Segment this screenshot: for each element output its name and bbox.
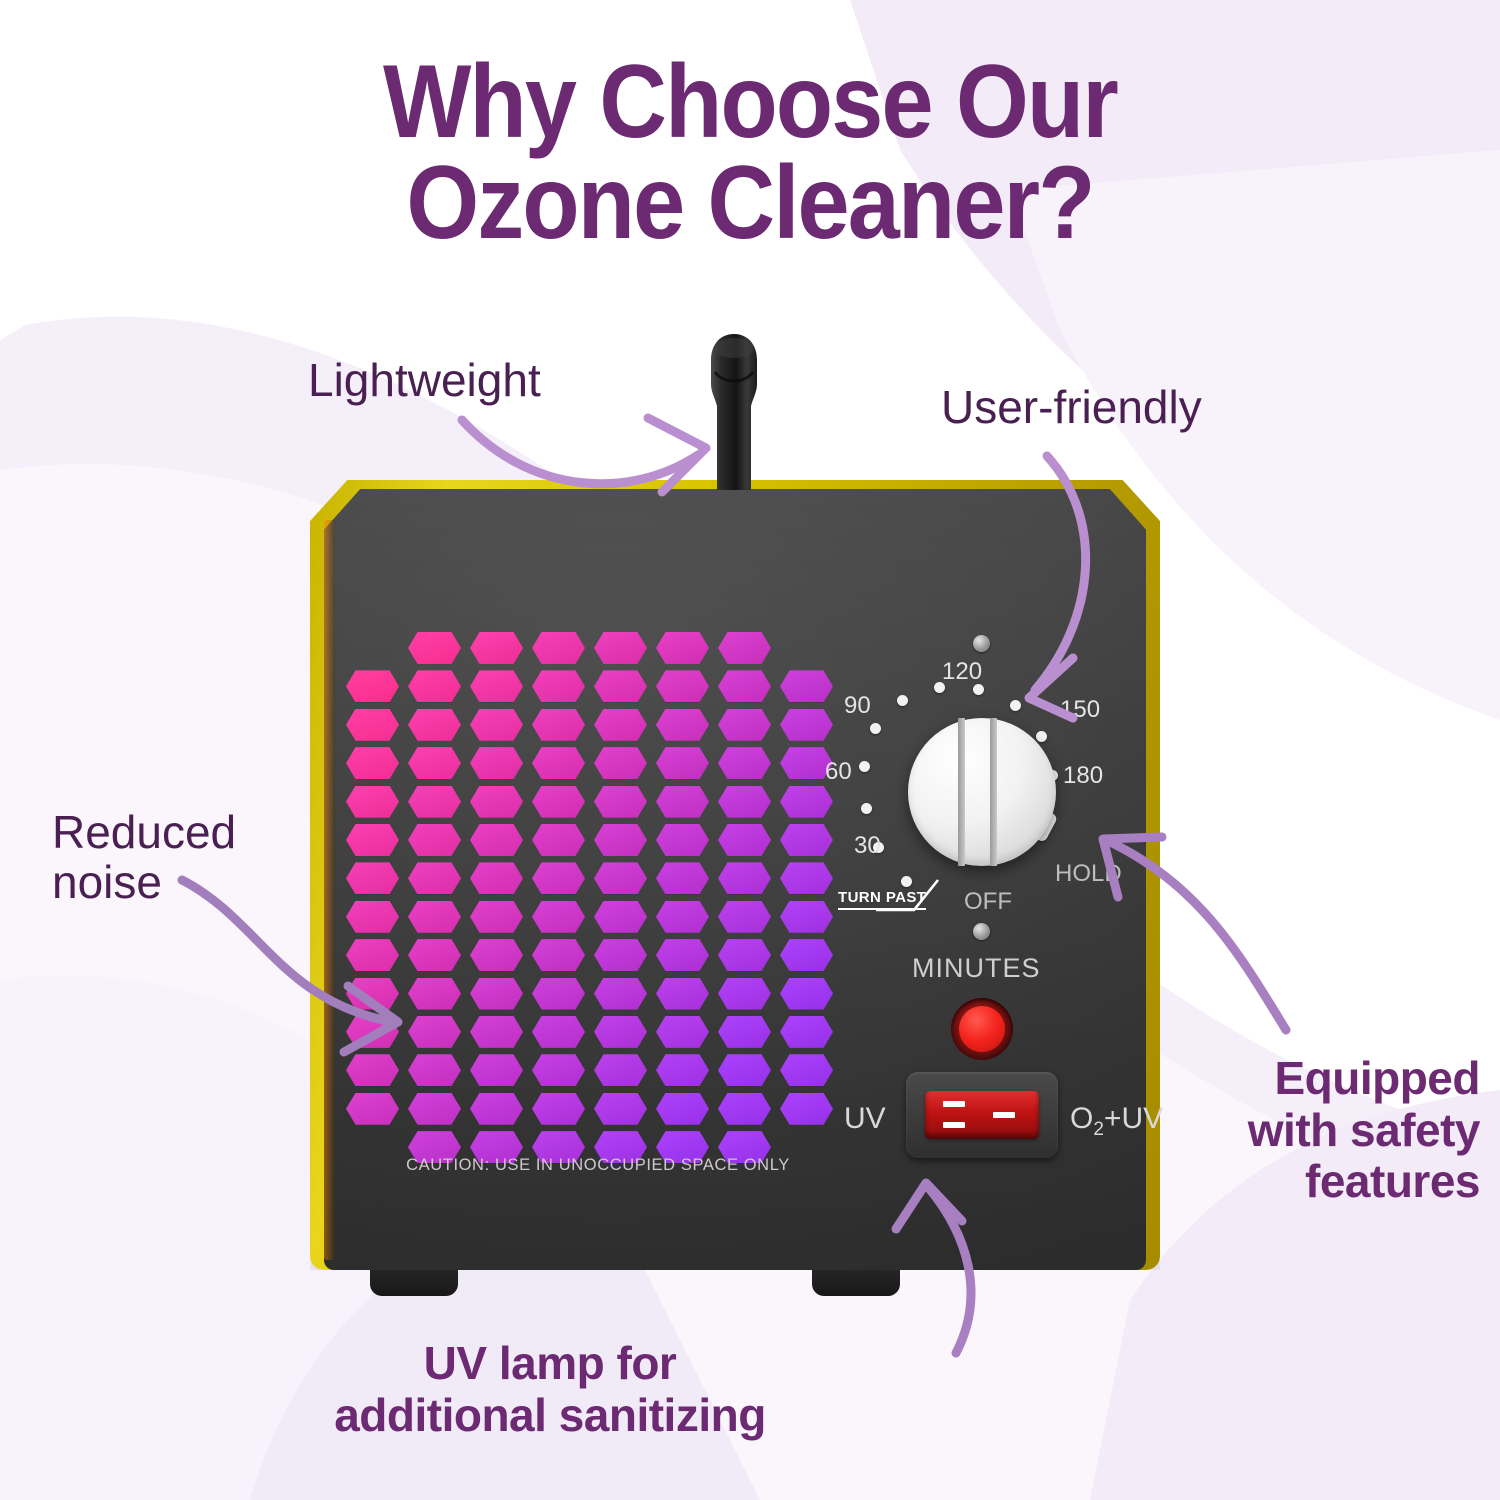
grille-cell (408, 632, 461, 664)
grille-cell (470, 939, 523, 971)
dial-tick-dot (861, 803, 872, 814)
grille-cell (532, 709, 585, 741)
grille-cell (532, 978, 585, 1010)
led-glow-icon (959, 1006, 1005, 1052)
grille-cell (532, 1054, 585, 1086)
grille-cell (780, 709, 833, 741)
caution-text: CAUTION: USE IN UNOCCUPIED SPACE ONLY (388, 1156, 808, 1175)
grille-cell (718, 632, 771, 664)
grille-cell (780, 939, 833, 971)
infographic-canvas: Why Choose Our Ozone Cleaner? Lightweigh… (0, 0, 1500, 1500)
mode-rocker-switch[interactable] (925, 1091, 1039, 1139)
callout-uv-line-2: additional sanitizing (334, 1389, 766, 1441)
switch-label-sub: 2 (1093, 1119, 1104, 1140)
grille-cell (470, 786, 523, 818)
grille-cell (408, 1016, 461, 1048)
grille-cell (594, 747, 647, 779)
grille-cell (718, 1016, 771, 1048)
grille-cell (594, 632, 647, 664)
grille-cell (532, 1016, 585, 1048)
grille-row (346, 670, 836, 703)
dial-label-60: 60 (825, 758, 852, 786)
rocker-tick-icon (943, 1101, 965, 1107)
grille-row (346, 939, 836, 972)
grille-row (346, 709, 836, 742)
dial-label-180: 180 (1063, 762, 1103, 790)
grille-row (346, 824, 836, 857)
dial-label-off: OFF (964, 888, 1012, 916)
grille-cell (656, 747, 709, 779)
grille-cell (656, 1016, 709, 1048)
grille-cell (656, 709, 709, 741)
callout-safety-line-2: with safety (1248, 1104, 1480, 1156)
grille-cell (532, 901, 585, 933)
grille-cell (780, 978, 833, 1010)
arrow-uv-lamp-icon (830, 1175, 1010, 1360)
switch-label-o: O (1070, 1102, 1093, 1135)
grille-cell (594, 1054, 647, 1086)
grille-cell (532, 824, 585, 856)
dial-label-90: 90 (844, 692, 871, 720)
screw-bottom-icon (973, 923, 990, 940)
callout-safety-line-1: Equipped (1274, 1052, 1480, 1104)
grille-cell (470, 747, 523, 779)
grille-row (346, 1054, 836, 1087)
grille-cell (470, 978, 523, 1010)
callout-uv-line-1: UV lamp for (424, 1337, 677, 1389)
grille-cell (346, 824, 399, 856)
grille-row (346, 901, 836, 934)
grille-cell (594, 670, 647, 702)
power-indicator-led (951, 998, 1013, 1060)
dial-label-120: 120 (942, 658, 982, 686)
grille-row (346, 747, 836, 780)
grille-row (346, 862, 836, 895)
grille-cell (780, 824, 833, 856)
mode-switch-housing (906, 1072, 1058, 1158)
page-title: Why Choose Our Ozone Cleaner? (75, 52, 1425, 254)
grille-cell (532, 747, 585, 779)
grille-cell (656, 670, 709, 702)
grille-cell (470, 1016, 523, 1048)
grille-cell (408, 709, 461, 741)
grille-cell (408, 1093, 461, 1125)
arrow-lightweight-icon (450, 400, 750, 520)
grille-cell (594, 709, 647, 741)
grille-cell (718, 1054, 771, 1086)
title-line-1: Why Choose Our (383, 44, 1117, 160)
grille-row (346, 786, 836, 819)
grille-cell (470, 632, 523, 664)
grille-cell (656, 901, 709, 933)
minutes-label: MINUTES (912, 953, 1041, 984)
callout-lightweight: Lightweight (308, 356, 541, 406)
grille-cell (656, 939, 709, 971)
grille-cell (718, 901, 771, 933)
grille-cell (470, 1093, 523, 1125)
dial-tick-dot (870, 723, 881, 734)
grille-row (346, 1016, 836, 1049)
grille-cell (470, 862, 523, 894)
timer-knob[interactable] (908, 718, 1056, 866)
grille-cell (408, 747, 461, 779)
switch-label-o2-uv: O2+UV (1070, 1102, 1163, 1141)
knob-groove (990, 718, 997, 866)
grille-cell (780, 786, 833, 818)
callout-user-friendly: User-friendly (941, 383, 1202, 433)
dial-label-30: 30 (854, 832, 881, 860)
grille-cell (346, 786, 399, 818)
grille-row (408, 632, 836, 665)
grille-cell (594, 939, 647, 971)
grille-cell (470, 1054, 523, 1086)
grille-row (346, 978, 836, 1011)
grille-cell (346, 747, 399, 779)
grille-cell (718, 824, 771, 856)
callout-reduced-noise-line-1: Reduced (52, 806, 236, 858)
grille-cell (346, 670, 399, 702)
grille-cell (408, 670, 461, 702)
title-line-2: Ozone Cleaner? (75, 153, 1425, 254)
grille-cell (470, 670, 523, 702)
grille-cell (408, 939, 461, 971)
grille-cell (780, 670, 833, 702)
arrow-user-friendly-icon (1015, 440, 1225, 740)
grille-cell (656, 978, 709, 1010)
grille-cell (718, 747, 771, 779)
grille-cell (718, 978, 771, 1010)
grille-cell (594, 824, 647, 856)
grille-cell (532, 862, 585, 894)
turn-past-label: TURN PAST (838, 889, 926, 910)
dial-tick-dot (897, 695, 908, 706)
grille-cell (718, 709, 771, 741)
grille-cell (780, 1093, 833, 1125)
switch-label-tail: +UV (1104, 1102, 1163, 1135)
grille-cell (718, 862, 771, 894)
grille-cell (780, 901, 833, 933)
grille-cell (718, 670, 771, 702)
grille-cell (346, 709, 399, 741)
grille-cell (594, 978, 647, 1010)
grille-cell (656, 632, 709, 664)
grille-cell (470, 901, 523, 933)
grille-row (346, 1093, 836, 1126)
grille-cell (594, 1016, 647, 1048)
grille-cell (408, 1054, 461, 1086)
grille-cell (408, 824, 461, 856)
grille-cell (594, 901, 647, 933)
ozone-outlet-grille (346, 632, 836, 1152)
grille-cell (532, 670, 585, 702)
grille-cell (656, 824, 709, 856)
grille-cell (718, 939, 771, 971)
grille-cell (408, 786, 461, 818)
grille-cell (656, 786, 709, 818)
grille-cell (532, 1093, 585, 1125)
callout-reduced-noise-line-2: noise (52, 856, 162, 908)
grille-cell (532, 786, 585, 818)
arrow-reduced-noise-icon (170, 870, 410, 1070)
grille-cell (532, 632, 585, 664)
grille-cell (532, 939, 585, 971)
grille-cell (656, 1054, 709, 1086)
grille-cell (780, 1054, 833, 1086)
grille-cell (594, 1093, 647, 1125)
grille-cell (470, 824, 523, 856)
callout-safety-line-3: features (1305, 1155, 1480, 1207)
grille-cell (780, 1016, 833, 1048)
grille-cell (656, 1093, 709, 1125)
grille-cell (346, 1093, 399, 1125)
grille-cell (718, 786, 771, 818)
grille-cell (594, 862, 647, 894)
grille-cell (408, 862, 461, 894)
grille-cell (718, 1093, 771, 1125)
callout-safety-features: Equipped with safety features (1180, 1053, 1480, 1208)
rocker-tick-icon (993, 1112, 1015, 1118)
callout-uv-lamp: UV lamp for additional sanitizing (280, 1338, 820, 1441)
screw-top-icon (973, 635, 990, 652)
dial-tick-dot (859, 761, 870, 772)
grille-cell (594, 786, 647, 818)
grille-cell (470, 709, 523, 741)
rocker-tick-icon (943, 1122, 965, 1128)
grille-cell (408, 901, 461, 933)
arrow-safety-features-icon (1090, 815, 1310, 1045)
grille-cell (656, 862, 709, 894)
knob-groove (958, 718, 965, 866)
switch-label-uv: UV (844, 1102, 886, 1136)
grille-cell (408, 978, 461, 1010)
grille-cell (780, 862, 833, 894)
